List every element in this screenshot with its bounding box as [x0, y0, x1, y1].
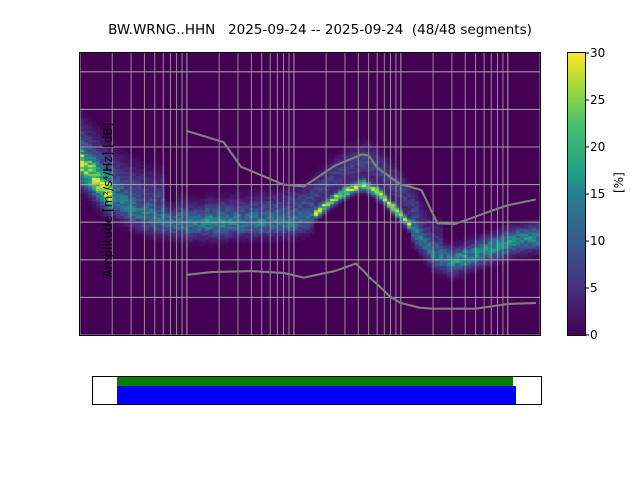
- x-tick-mark: [131, 335, 132, 336]
- x-tick-mark: [475, 335, 476, 336]
- timeline-used-bar: [117, 377, 513, 386]
- colorbar-tick-label: 10: [590, 234, 605, 248]
- x-tick-mark: [390, 335, 391, 336]
- x-tick-mark: [80, 335, 81, 336]
- colorbar-tick-mark: [585, 147, 589, 148]
- x-tick-mark: [540, 335, 541, 336]
- x-tick-mark: [491, 335, 492, 336]
- x-tick-mark: [154, 335, 155, 336]
- colorbar-tick-mark: [585, 335, 589, 336]
- colorbar-tick-label: 5: [590, 281, 598, 295]
- x-tick-mark: [395, 335, 396, 336]
- x-tick-mark: [270, 335, 271, 336]
- x-tick-mark: [433, 335, 434, 336]
- timeline-tick-mark: [166, 404, 167, 405]
- ppsd-plot-area[interactable]: −60−80−100−120−140−160−180−200 0.010.111…: [79, 52, 541, 336]
- coverage-timeline[interactable]: 09-24 0009-24 0309-24 0609-24 0909-24 12…: [92, 376, 542, 405]
- x-tick-mark: [368, 335, 369, 336]
- timeline-tick-mark: [316, 404, 317, 405]
- x-tick-mark: [182, 335, 183, 336]
- y-tick-mark: [79, 297, 80, 298]
- y-tick-mark: [79, 109, 80, 110]
- x-tick-mark: [176, 335, 177, 336]
- colorbar-tick-label: 25: [590, 93, 605, 107]
- x-tick-mark: [502, 335, 503, 336]
- x-tick-mark: [326, 335, 327, 336]
- y-tick-mark: [79, 259, 80, 260]
- timeline-tick-mark: [216, 404, 217, 405]
- x-tick-mark: [451, 335, 452, 336]
- colorbar-tick-mark: [585, 241, 589, 242]
- y-tick-mark: [79, 147, 80, 148]
- x-tick-mark: [384, 335, 385, 336]
- colorbar-label: [%]: [612, 172, 626, 193]
- y-tick-mark: [79, 222, 80, 223]
- x-tick-mark: [219, 335, 220, 336]
- colorbar-tick-mark: [585, 288, 589, 289]
- ppsd-canvas: [80, 53, 540, 335]
- x-tick-mark: [112, 335, 113, 336]
- colorbar-tick-mark: [585, 100, 589, 101]
- timeline-tick-mark: [466, 404, 467, 405]
- ppsd-figure: BW.WRNG..HHN 2025-09-24 -- 2025-09-24 (4…: [0, 0, 640, 480]
- timeline-data-bar: [117, 386, 517, 404]
- x-tick-mark: [358, 335, 359, 336]
- x-tick-mark: [497, 335, 498, 336]
- x-tick-mark: [144, 335, 145, 336]
- x-tick-mark: [289, 335, 290, 336]
- colorbar[interactable]: 051015202530: [567, 52, 586, 336]
- x-tick-mark: [400, 335, 401, 336]
- y-tick-mark: [79, 184, 80, 185]
- y-tick-mark: [79, 71, 80, 72]
- noise-model-curves: [80, 53, 540, 335]
- y-axis-label: Amplitude [m²/s⁴/Hz] [dB]: [101, 52, 115, 336]
- colorbar-tick-label: 0: [590, 328, 598, 342]
- x-tick-mark: [251, 335, 252, 336]
- x-tick-mark: [377, 335, 378, 336]
- plot-title: BW.WRNG..HHN 2025-09-24 -- 2025-09-24 (4…: [0, 22, 640, 38]
- x-tick-mark: [283, 335, 284, 336]
- colorbar-tick-label: 30: [590, 46, 605, 60]
- timeline-tick-mark: [366, 404, 367, 405]
- x-tick-mark: [293, 335, 294, 336]
- x-tick-mark: [344, 335, 345, 336]
- timeline-tick-mark: [516, 404, 517, 405]
- colorbar-tick-label: 20: [590, 140, 605, 154]
- x-tick-mark: [170, 335, 171, 336]
- colorbar-tick-label: 15: [590, 187, 605, 201]
- timeline-tick-mark: [116, 404, 117, 405]
- x-tick-mark: [237, 335, 238, 336]
- x-tick-mark: [163, 335, 164, 336]
- timeline-tick-mark: [416, 404, 417, 405]
- x-tick-mark: [507, 335, 508, 336]
- x-tick-mark: [277, 335, 278, 336]
- x-tick-mark: [261, 335, 262, 336]
- timeline-tick-mark: [266, 404, 267, 405]
- x-tick-mark: [484, 335, 485, 336]
- x-tick-mark: [465, 335, 466, 336]
- colorbar-tick-mark: [585, 53, 589, 54]
- colorbar-tick-mark: [585, 194, 589, 195]
- x-tick-mark: [186, 335, 187, 336]
